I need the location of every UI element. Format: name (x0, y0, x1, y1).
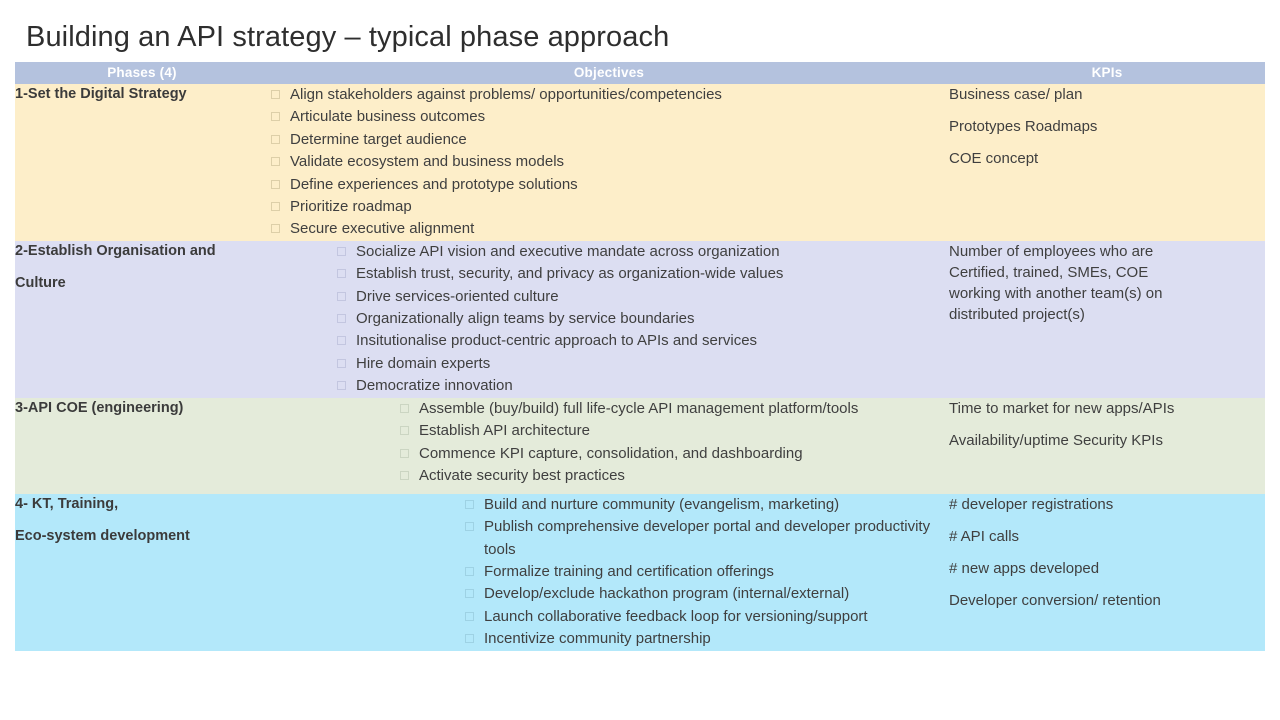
objective-item: Formalize training and certification off… (465, 561, 949, 583)
kpi-text: COE concept (949, 148, 1265, 169)
objective-item: Insitutionalise product-centric approach… (337, 330, 949, 352)
kpi-item: Availability/uptime Security KPIs (949, 430, 1265, 451)
objective-item: Assemble (buy/build) full life-cycle API… (400, 398, 949, 420)
objective-text: Secure executive alignment (290, 220, 474, 237)
kpi-text: # new apps developed (949, 558, 1265, 579)
objective-text: Define experiences and prototype solutio… (290, 176, 578, 193)
objective-text: Establish API architecture (419, 422, 590, 439)
column-header-objectives: Objectives (269, 62, 949, 84)
checkbox-icon (400, 426, 409, 435)
objective-text: Build and nurture community (evangelism,… (484, 496, 839, 513)
table-row: 1-Set the Digital Strategy Align stakeho… (15, 84, 1265, 241)
kpi-text: Business case/ plan (949, 84, 1265, 105)
objective-text: Organizationally align teams by service … (356, 310, 695, 327)
objective-item: Develop/exclude hackathon program (inter… (465, 583, 949, 605)
kpi-text: Availability/uptime Security KPIs (949, 430, 1265, 451)
table-row: 2-Establish Organisation and Culture Soc… (15, 241, 1265, 398)
objective-text: Democratize innovation (356, 377, 513, 394)
checkbox-icon (465, 634, 474, 643)
checkbox-icon (465, 589, 474, 598)
kpi-text: Time to market for new apps/APIs (949, 398, 1265, 419)
kpi-item: Developer conversion/ retention (949, 590, 1265, 611)
phase-label: 4- KT, Training, (15, 494, 269, 514)
kpi-item: Business case/ plan (949, 84, 1265, 105)
objectives-list: Assemble (buy/build) full life-cycle API… (400, 398, 949, 488)
objective-text: Formalize training and certification off… (484, 563, 774, 580)
phase-cell: 3-API COE (engineering) (15, 398, 269, 494)
objective-item: Define experiences and prototype solutio… (271, 174, 949, 196)
phase-label-continued: Culture (15, 273, 269, 293)
kpi-item: Time to market for new apps/APIs (949, 398, 1265, 419)
header-row: Phases (4) Objectives KPIs (15, 62, 1265, 84)
objective-item: Establish trust, security, and privacy a… (337, 263, 949, 285)
checkbox-icon (271, 202, 280, 211)
objective-item: Organizationally align teams by service … (337, 308, 949, 330)
objectives-list: Build and nurture community (evangelism,… (465, 494, 949, 651)
objective-item: Activate security best practices (400, 465, 949, 487)
checkbox-icon (271, 157, 280, 166)
objective-text: Determine target audience (290, 131, 467, 148)
objective-item: Establish API architecture (400, 420, 949, 442)
checkbox-icon (271, 180, 280, 189)
objective-item: Incentivize community partnership (465, 628, 949, 650)
checkbox-icon (271, 224, 280, 233)
column-header-phases: Phases (4) (15, 62, 269, 84)
objectives-cell: Socialize API vision and executive manda… (269, 241, 949, 398)
checkbox-icon (337, 292, 346, 301)
objective-item: Drive services-oriented culture (337, 286, 949, 308)
checkbox-icon (271, 90, 280, 99)
kpi-text: distributed project(s) (949, 304, 1265, 325)
objective-text: Publish comprehensive developer portal a… (484, 518, 930, 557)
checkbox-icon (337, 381, 346, 390)
kpis-cell: Business case/ plan Prototypes Roadmaps … (949, 84, 1265, 241)
checkbox-icon (271, 135, 280, 144)
objective-item: Launch collaborative feedback loop for v… (465, 606, 949, 628)
objective-item: Build and nurture community (evangelism,… (465, 494, 949, 516)
table-row: 4- KT, Training, Eco-system development … (15, 494, 1265, 651)
kpi-text: Prototypes Roadmaps (949, 116, 1265, 137)
kpi-item: # API calls (949, 526, 1265, 547)
objective-text: Commence KPI capture, consolidation, and… (419, 445, 803, 462)
checkbox-icon (400, 471, 409, 480)
objective-item: Validate ecosystem and business models (271, 151, 949, 173)
phase-label: 3-API COE (engineering) (15, 398, 269, 418)
phase-label: 2-Establish Organisation and (15, 241, 269, 261)
objective-item: Democratize innovation (337, 375, 949, 397)
objective-text: Insitutionalise product-centric approach… (356, 332, 757, 349)
checkbox-icon (337, 269, 346, 278)
page-title: Building an API strategy – typical phase… (26, 21, 669, 54)
objective-item: Hire domain experts (337, 353, 949, 375)
checkbox-icon (337, 359, 346, 368)
objective-text: Incentivize community partnership (484, 630, 711, 647)
slide: Building an API strategy – typical phase… (0, 0, 1280, 720)
objective-item: Prioritize roadmap (271, 196, 949, 218)
kpi-text: working with another team(s) on (949, 283, 1265, 304)
checkbox-icon (400, 404, 409, 413)
objectives-cell: Build and nurture community (evangelism,… (269, 494, 949, 651)
phase-approach-table: Phases (4) Objectives KPIs 1-Set the Dig… (15, 62, 1265, 651)
table-row: 3-API COE (engineering) Assemble (buy/bu… (15, 398, 1265, 494)
objective-text: Validate ecosystem and business models (290, 153, 564, 170)
objective-text: Align stakeholders against problems/ opp… (290, 86, 722, 103)
objective-text: Assemble (buy/build) full life-cycle API… (419, 400, 858, 417)
kpis-cell: Number of employees who are Certified, t… (949, 241, 1265, 398)
checkbox-icon (465, 500, 474, 509)
kpi-text: Certified, trained, SMEs, COE (949, 262, 1265, 283)
kpi-item: Prototypes Roadmaps (949, 116, 1265, 137)
kpis-cell: Time to market for new apps/APIs Availab… (949, 398, 1265, 494)
checkbox-icon (465, 522, 474, 531)
objective-item: Articulate business outcomes (271, 106, 949, 128)
table-body: 1-Set the Digital Strategy Align stakeho… (15, 84, 1265, 651)
objective-text: Articulate business outcomes (290, 108, 485, 125)
checkbox-icon (465, 567, 474, 576)
objective-item: Secure executive alignment (271, 218, 949, 240)
kpi-item: Number of employees who are Certified, t… (949, 241, 1265, 325)
objective-item: Socialize API vision and executive manda… (337, 241, 949, 263)
kpi-item: # new apps developed (949, 558, 1265, 579)
objective-text: Hire domain experts (356, 355, 490, 372)
checkbox-icon (337, 247, 346, 256)
checkbox-icon (465, 612, 474, 621)
checkbox-icon (337, 336, 346, 345)
objective-text: Develop/exclude hackathon program (inter… (484, 585, 849, 602)
kpis-cell: # developer registrations # API calls # … (949, 494, 1265, 651)
phase-label-continued: Eco-system development (15, 526, 269, 546)
kpi-item: COE concept (949, 148, 1265, 169)
objective-text: Establish trust, security, and privacy a… (356, 265, 783, 282)
kpi-text: Developer conversion/ retention (949, 590, 1265, 611)
kpi-text: # API calls (949, 526, 1265, 547)
objectives-list: Align stakeholders against problems/ opp… (271, 84, 949, 241)
objective-text: Prioritize roadmap (290, 198, 412, 215)
checkbox-icon (400, 449, 409, 458)
objectives-list: Socialize API vision and executive manda… (337, 241, 949, 398)
objective-text: Launch collaborative feedback loop for v… (484, 608, 868, 625)
table-header: Phases (4) Objectives KPIs (15, 62, 1265, 84)
checkbox-icon (271, 112, 280, 121)
column-header-kpis: KPIs (949, 62, 1265, 84)
objective-item: Publish comprehensive developer portal a… (465, 516, 949, 561)
kpi-text: # developer registrations (949, 494, 1265, 515)
phase-label: 1-Set the Digital Strategy (15, 84, 269, 104)
phase-cell: 1-Set the Digital Strategy (15, 84, 269, 241)
objective-text: Socialize API vision and executive manda… (356, 243, 780, 260)
objective-item: Determine target audience (271, 129, 949, 151)
objective-text: Drive services-oriented culture (356, 288, 559, 305)
kpi-text: Number of employees who are (949, 241, 1265, 262)
objectives-cell: Align stakeholders against problems/ opp… (269, 84, 949, 241)
phase-cell: 4- KT, Training, Eco-system development (15, 494, 269, 651)
phase-cell: 2-Establish Organisation and Culture (15, 241, 269, 398)
checkbox-icon (337, 314, 346, 323)
objective-item: Commence KPI capture, consolidation, and… (400, 443, 949, 465)
objective-item: Align stakeholders against problems/ opp… (271, 84, 949, 106)
kpi-item: # developer registrations (949, 494, 1265, 515)
objectives-cell: Assemble (buy/build) full life-cycle API… (269, 398, 949, 494)
objective-text: Activate security best practices (419, 467, 625, 484)
